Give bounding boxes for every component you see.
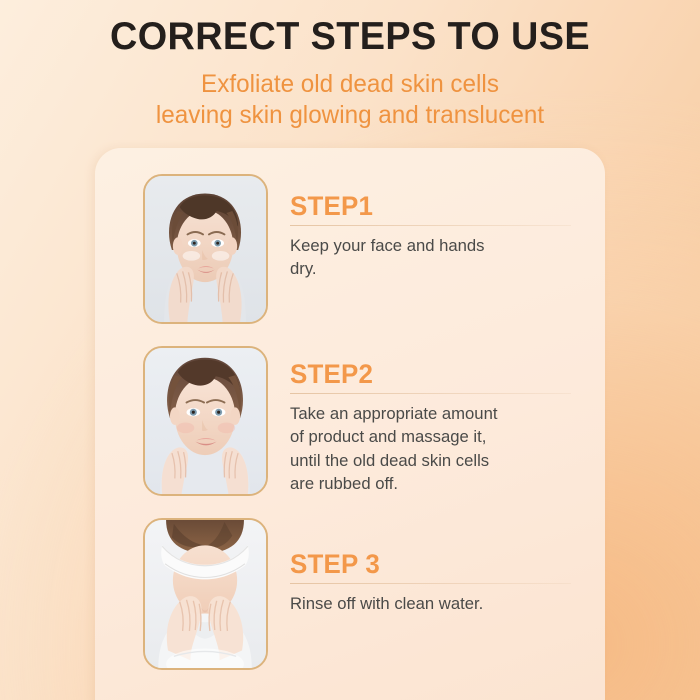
- woman-massaging-cheeks-icon: [145, 348, 266, 494]
- step-2-body: STEP2 Take an appropriate amount of prod…: [268, 346, 605, 495]
- page-subtitle: Exfoliate old dead skin cells leaving sk…: [11, 69, 690, 130]
- step-3-line-1: Rinse off with clean water.: [290, 592, 565, 615]
- step-item: STEP2 Take an appropriate amount of prod…: [95, 346, 605, 496]
- step-3-description: Rinse off with clean water.: [290, 592, 565, 615]
- step-2-divider: [290, 393, 571, 394]
- step-3-body: STEP 3 Rinse off with clean water.: [268, 518, 605, 615]
- step-1-body: STEP1 Keep your face and hands dry.: [268, 174, 605, 281]
- step-1-line-2: dry.: [290, 257, 565, 280]
- step-2-line-4: are rubbed off.: [290, 472, 565, 495]
- step-2-line-2: of product and massage it,: [290, 425, 565, 448]
- woman-patting-face-with-both-hands-icon: [145, 176, 266, 322]
- step-item: STEP 3 Rinse off with clean water.: [95, 518, 605, 670]
- step-2-line-1: Take an appropriate amount: [290, 402, 565, 425]
- subtitle-line-1: Exfoliate old dead skin cells: [11, 69, 690, 100]
- subtitle-line-2: leaving skin glowing and translucent: [11, 100, 690, 131]
- step-2-description: Take an appropriate amount of product an…: [290, 402, 565, 494]
- step-2-label: STEP2: [290, 360, 560, 388]
- step-3-photo: [143, 518, 268, 670]
- steps-card: STEP1 Keep your face and hands dry.: [95, 148, 605, 700]
- step-3-label: STEP 3: [290, 550, 560, 578]
- step-2-line-3: until the old dead skin cells: [290, 449, 565, 472]
- step-1-divider: [290, 225, 571, 226]
- step-2-photo: [143, 346, 268, 496]
- step-1-photo: [143, 174, 268, 324]
- page-title: CORRECT STEPS TO USE: [11, 16, 690, 57]
- step-1-label: STEP1: [290, 192, 560, 220]
- header: CORRECT STEPS TO USE Exfoliate old dead …: [0, 0, 700, 130]
- step-item: STEP1 Keep your face and hands dry.: [95, 174, 605, 324]
- step-3-divider: [290, 583, 571, 584]
- step-1-line-1: Keep your face and hands: [290, 234, 565, 257]
- step-1-description: Keep your face and hands dry.: [290, 234, 565, 280]
- woman-rinsing-face-with-water-icon: [145, 520, 266, 668]
